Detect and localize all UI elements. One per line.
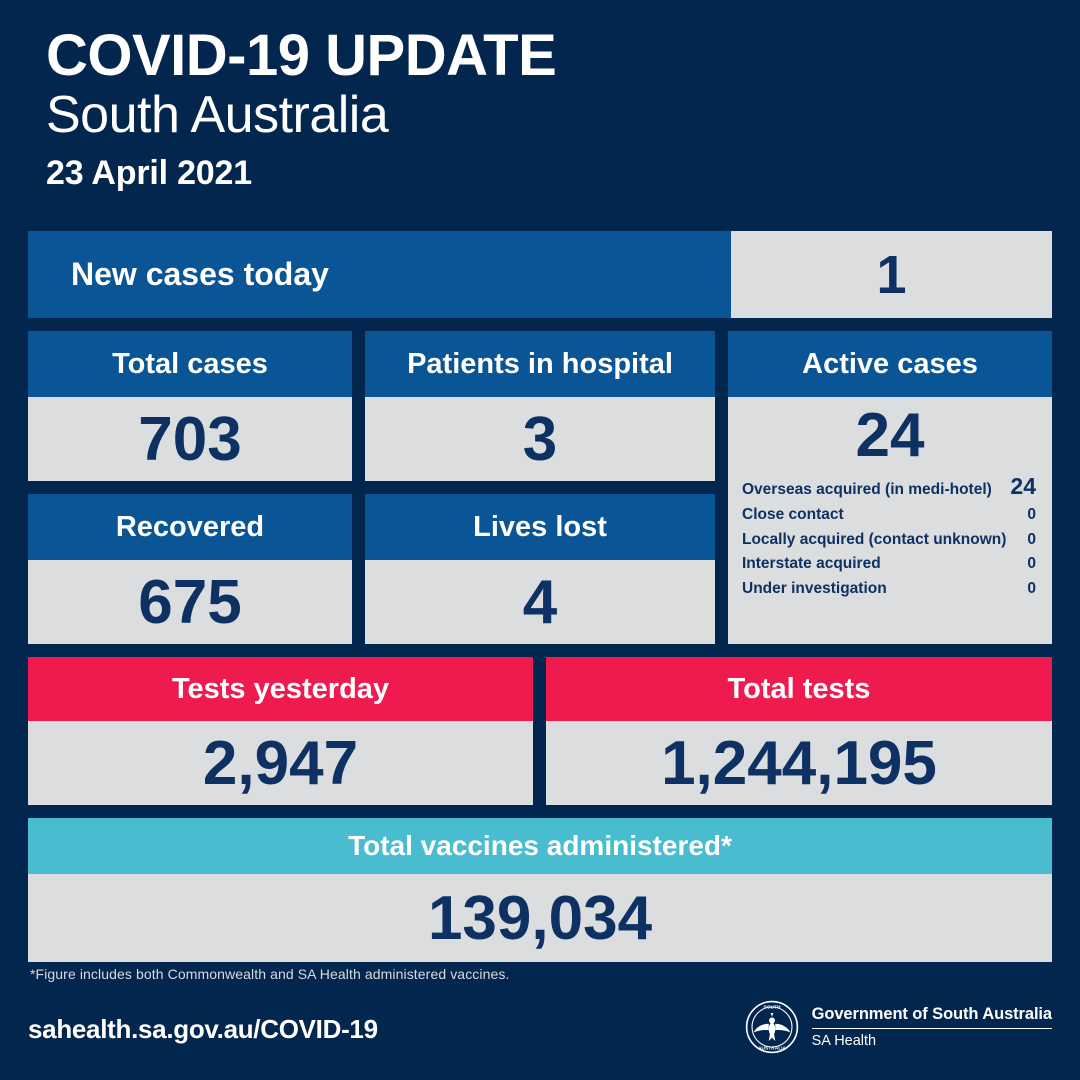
breakdown-row: Overseas acquired (in medi-hotel) 24	[740, 472, 1040, 502]
breakdown-label: Overseas acquired (in medi-hotel)	[742, 481, 992, 499]
stat-card-total-vaccines: Total vaccines administered* 139,034	[28, 818, 1052, 962]
svg-text:AUSTRALIA: AUSTRALIA	[758, 1046, 787, 1052]
new-cases-value: 1	[731, 231, 1052, 318]
column-gap	[533, 657, 546, 805]
stat-card-lives-lost: Lives lost 4	[365, 494, 715, 644]
breakdown-row: Locally acquired (contact unknown) 0	[740, 527, 1040, 552]
stat-card-total-tests: Total tests 1,244,195	[546, 657, 1052, 805]
lives-lost-value: 4	[365, 560, 715, 644]
total-vaccines-value: 139,034	[28, 874, 1052, 962]
breakdown-value: 0	[1019, 531, 1036, 549]
breakdown-value: 0	[1019, 580, 1036, 598]
column-gap	[715, 331, 728, 644]
breakdown-row: Close contact 0	[740, 502, 1040, 527]
breakdown-label: Under investigation	[742, 580, 887, 598]
breakdown-row: Interstate acquired 0	[740, 552, 1040, 577]
stat-card-total-cases: Total cases 703	[28, 331, 352, 481]
website-url[interactable]: sahealth.sa.gov.au/COVID-19	[28, 1014, 378, 1045]
left-stat-stack: Total cases 703 Patients in hospital 3 R…	[28, 331, 715, 644]
column-gap	[352, 494, 365, 644]
breakdown-value: 0	[1019, 506, 1036, 524]
breakdown-row: Under investigation 0	[740, 577, 1040, 602]
active-cases-body: 24 Overseas acquired (in medi-hotel) 24 …	[728, 397, 1052, 644]
stat-subrow-recovered-lives: Recovered 675 Lives lost 4	[28, 494, 715, 644]
header-block: COVID-19 UPDATE South Australia 23 April…	[46, 26, 746, 194]
logo-text-block: Government of South Australia SA Health	[812, 1005, 1052, 1049]
breakdown-value: 24	[1002, 476, 1036, 497]
patients-in-hospital-value: 3	[365, 397, 715, 481]
tests-yesterday-label: Tests yesterday	[28, 657, 533, 721]
recovered-label: Recovered	[28, 494, 352, 560]
active-cases-label: Active cases	[728, 331, 1052, 397]
breakdown-label: Interstate acquired	[742, 555, 881, 573]
stat-row-main: Total cases 703 Patients in hospital 3 R…	[28, 331, 1052, 644]
breakdown-value: 0	[1019, 555, 1036, 573]
total-tests-label: Total tests	[546, 657, 1052, 721]
page-subtitle-region: South Australia	[46, 87, 746, 143]
stat-card-tests-yesterday: Tests yesterday 2,947	[28, 657, 533, 805]
department-label: SA Health	[812, 1029, 1052, 1049]
active-cases-value: 24	[740, 397, 1040, 470]
covid-update-infographic: COVID-19 UPDATE South Australia 23 April…	[0, 0, 1080, 1080]
total-cases-value: 703	[28, 397, 352, 481]
svg-text:SOUTH: SOUTH	[763, 1005, 780, 1011]
column-gap	[352, 331, 365, 481]
breakdown-label: Locally acquired (contact unknown)	[742, 531, 1006, 549]
patients-in-hospital-label: Patients in hospital	[365, 331, 715, 397]
tests-yesterday-value: 2,947	[28, 721, 533, 805]
page-title: COVID-19 UPDATE	[46, 26, 746, 85]
total-cases-label: Total cases	[28, 331, 352, 397]
government-label: Government of South Australia	[812, 1005, 1052, 1029]
stat-card-recovered: Recovered 675	[28, 494, 352, 644]
report-date: 23 April 2021	[46, 153, 746, 194]
stat-row-new-cases: New cases today 1	[28, 231, 1052, 318]
stat-card-patients-in-hospital: Patients in hospital 3	[365, 331, 715, 481]
active-cases-breakdown: Overseas acquired (in medi-hotel) 24 Clo…	[740, 472, 1040, 601]
total-vaccines-label: Total vaccines administered*	[28, 818, 1052, 874]
stats-grid: New cases today 1 Total cases 703 Patien…	[28, 231, 1052, 962]
total-tests-value: 1,244,195	[546, 721, 1052, 805]
south-australia-crest-icon: SOUTH AUSTRALIA	[745, 1000, 799, 1054]
vaccine-footnote: *Figure includes both Commonwealth and S…	[30, 966, 509, 982]
recovered-value: 675	[28, 560, 352, 644]
lives-lost-label: Lives lost	[365, 494, 715, 560]
sa-health-logo: SOUTH AUSTRALIA Government of South Aust…	[745, 1000, 1052, 1054]
stat-card-active-cases: Active cases 24 Overseas acquired (in me…	[728, 331, 1052, 644]
stat-row-vaccines: Total vaccines administered* 139,034	[28, 818, 1052, 962]
stat-row-tests: Tests yesterday 2,947 Total tests 1,244,…	[28, 657, 1052, 805]
stat-subrow-cases-hospital: Total cases 703 Patients in hospital 3	[28, 331, 715, 481]
new-cases-label: New cases today	[28, 231, 731, 318]
breakdown-label: Close contact	[742, 506, 844, 524]
